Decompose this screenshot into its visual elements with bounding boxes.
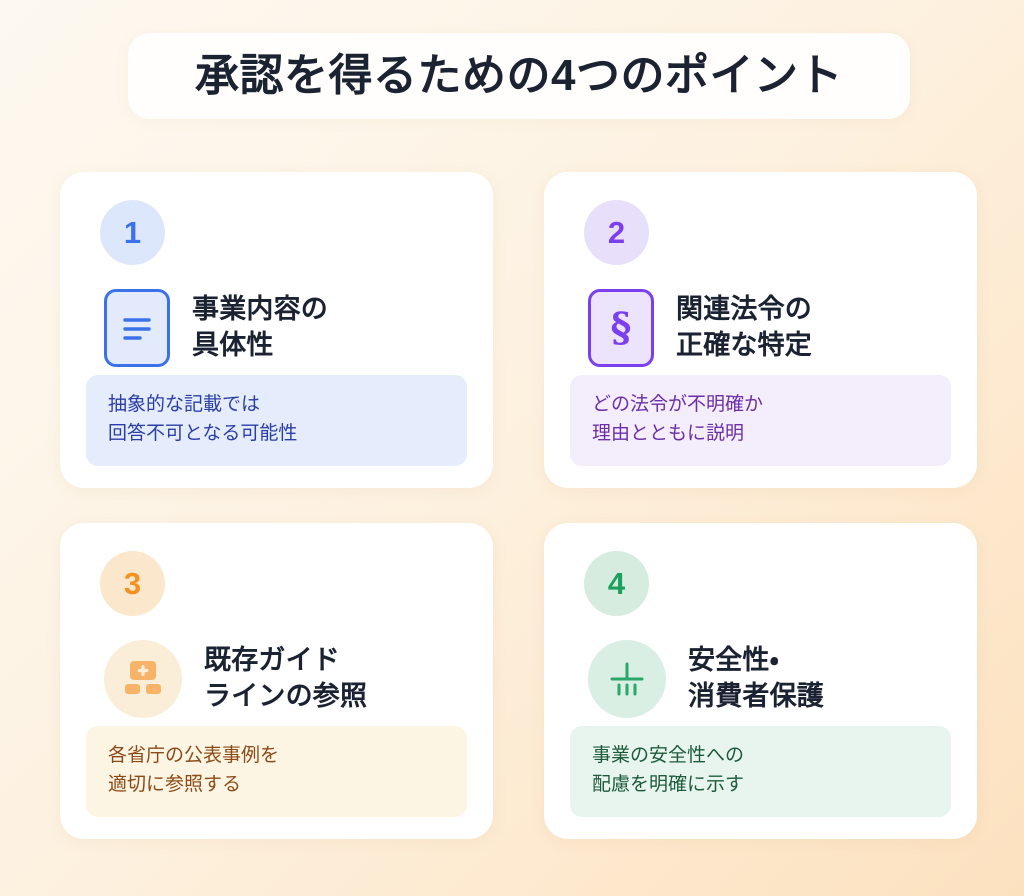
card-title-line2: 消費者保護 [688,679,824,715]
card-note-2: どの法令が不明確か 理由とともに説明 [570,375,951,466]
card-note-line1: 抽象的な記載では [108,391,445,420]
section-sign-glyph: § [611,308,632,348]
card-title-line1: 事業内容の [192,292,328,328]
point-number-badge-1: 1 [100,200,165,265]
card-note-line2: 理由とともに説明 [592,420,929,449]
card-title-line2: ラインの参照 [204,679,367,715]
point-number-badge-3: 3 [100,551,165,616]
card-title-1: 事業内容の 具体性 [192,292,328,364]
card-header-2: § 関連法令の 正確な特定 [588,289,951,367]
card-note-line2: 適切に参照する [108,771,445,800]
point-card-3[interactable]: 3 既存ガイド ラインの参照 各省庁の公表事例を [60,523,493,839]
card-note-line1: 各省庁の公表事例を [108,742,445,771]
card-title-line1: 関連法令の [676,292,812,328]
card-title-3: 既存ガイド ラインの参照 [204,643,367,715]
card-note-1: 抽象的な記載では 回答不可となる可能性 [86,375,467,466]
point-number-badge-4: 4 [584,551,649,616]
page-title: 承認を得るための4つのポイント [195,54,843,98]
card-note-line1: 事業の安全性への [592,742,929,771]
point-card-2[interactable]: 2 § 関連法令の 正確な特定 どの法令が不明確か 理由とともに説明 [544,172,977,488]
card-title-4: 安全性・ 消費者保護 [688,643,824,715]
card-title-2: 関連法令の 正確な特定 [676,292,812,364]
card-header-1: 事業内容の 具体性 [104,289,467,367]
point-card-4[interactable]: 4 安全性・ 消費者保護 [544,523,977,839]
document-lines-icon [104,289,170,367]
safety-shower-icon [588,640,666,718]
card-note-line2: 配慮を明確に示す [592,771,929,800]
card-title-line2: 具体性 [192,328,328,364]
page-title-pill: 承認を得るための4つのポイント [128,33,910,119]
guideline-blocks-icon [104,640,182,718]
point-card-1[interactable]: 1 事業内容の 具体性 抽象的な記載では 回答不可となる可能性 [60,172,493,488]
card-header-3: 既存ガイド ラインの参照 [104,640,467,718]
card-note-line1: どの法令が不明確か [592,391,929,420]
card-title-line1: 安全性・ [688,643,824,679]
card-note-line2: 回答不可となる可能性 [108,420,445,449]
card-title-line1: 既存ガイド [204,643,367,679]
points-grid: 1 事業内容の 具体性 抽象的な記載では 回答不可となる可能性 [60,172,977,839]
card-note-3: 各省庁の公表事例を 適切に参照する [86,726,467,817]
card-title-line2: 正確な特定 [676,328,812,364]
card-note-4: 事業の安全性への 配慮を明確に示す [570,726,951,817]
section-sign-icon: § [588,289,654,367]
point-number-badge-2: 2 [584,200,649,265]
card-header-4: 安全性・ 消費者保護 [588,640,951,718]
infographic-canvas: 承認を得るための4つのポイント 1 事業内容の 具体性 [0,0,1024,896]
